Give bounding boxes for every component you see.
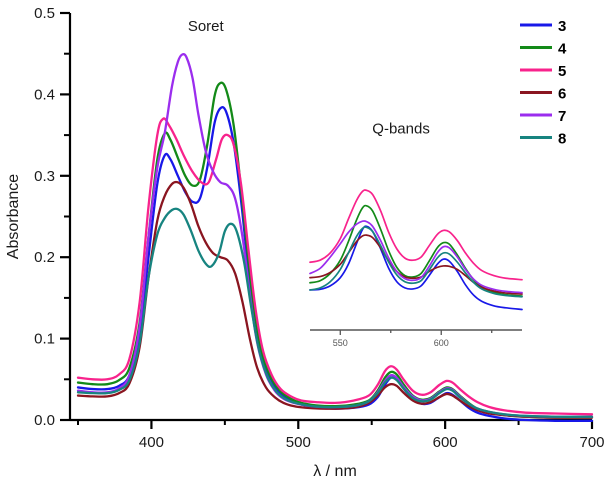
x-tick-label: 400 bbox=[139, 434, 164, 451]
y-tick-label: 0.4 bbox=[34, 86, 55, 103]
inset-x-axis-tick-labels: 550600 bbox=[333, 338, 449, 348]
inset-tick-label: 550 bbox=[333, 338, 348, 348]
series-curve-8 bbox=[78, 209, 592, 417]
y-tick-label: 0.3 bbox=[34, 168, 55, 185]
main-series-curves bbox=[78, 54, 592, 421]
x-tick-label: 600 bbox=[433, 434, 458, 451]
inset-series-curve-6 bbox=[310, 235, 522, 294]
x-axis-tick-labels: 400500600700 bbox=[139, 434, 605, 451]
x-axis-title: λ / nm bbox=[313, 463, 357, 480]
chart-legend: 345678 bbox=[520, 18, 567, 148]
legend-label-5: 5 bbox=[558, 63, 566, 80]
inset-x-axis-ticks bbox=[340, 330, 491, 335]
chart-svg: 400500600700 0.00.10.20.30.40.5 550600 S… bbox=[0, 0, 606, 484]
x-tick-label: 500 bbox=[286, 434, 311, 451]
soret-annotation: Soret bbox=[188, 18, 225, 35]
y-tick-label: 0.2 bbox=[34, 249, 55, 266]
series-curve-5 bbox=[78, 118, 592, 414]
chart-annotations: SoretQ-bands bbox=[188, 18, 430, 138]
inset-series-curves bbox=[310, 190, 522, 309]
y-tick-label: 0.1 bbox=[34, 331, 55, 348]
y-axis-ticks bbox=[60, 13, 70, 420]
main-axes: 400500600700 0.00.10.20.30.40.5 bbox=[34, 5, 604, 451]
absorbance-spectrum-figure: 400500600700 0.00.10.20.30.40.5 550600 S… bbox=[0, 0, 606, 484]
y-tick-label: 0.5 bbox=[34, 5, 55, 22]
x-tick-label: 700 bbox=[579, 434, 604, 451]
q-bands-annotation: Q-bands bbox=[372, 120, 430, 137]
x-axis-ticks bbox=[78, 420, 592, 429]
legend-label-8: 8 bbox=[558, 131, 566, 148]
y-tick-label: 0.0 bbox=[34, 412, 55, 429]
y-axis-tick-labels: 0.00.10.20.30.40.5 bbox=[34, 5, 55, 429]
legend-label-4: 4 bbox=[558, 41, 567, 58]
legend-label-6: 6 bbox=[558, 86, 566, 103]
y-axis-title: Absorbance bbox=[5, 174, 22, 259]
inset-tick-label: 600 bbox=[434, 338, 449, 348]
series-curve-6 bbox=[78, 182, 592, 418]
legend-label-7: 7 bbox=[558, 108, 566, 125]
inset-q-bands-plot: 550600 bbox=[310, 190, 522, 348]
legend-label-3: 3 bbox=[558, 18, 566, 35]
